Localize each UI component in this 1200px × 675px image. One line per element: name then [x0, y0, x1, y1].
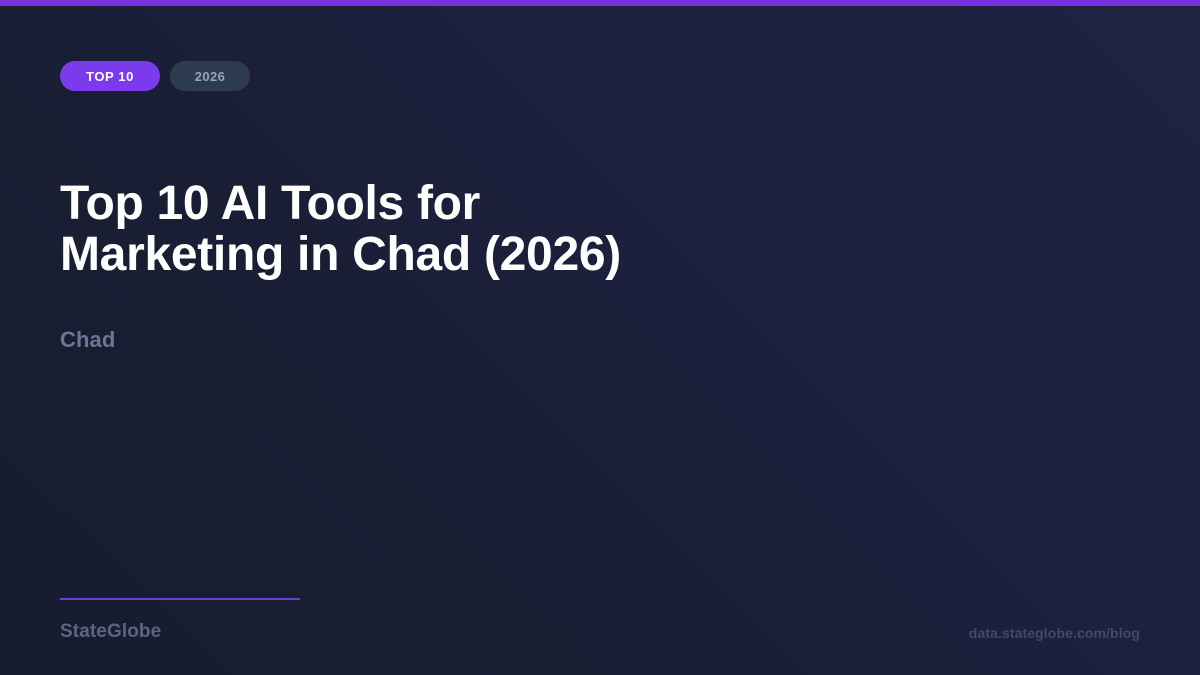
page-title-line-2: Marketing in Chad (2026) [60, 228, 621, 281]
title-slide: TOP 10 2026 Top 10 AI Tools forMarketing… [0, 0, 1200, 675]
footer-brand-name: StateGlobe [60, 621, 161, 643]
top-accent-bar [0, 0, 1200, 6]
page-title-line-1: Top 10 AI Tools for [60, 177, 480, 230]
year-badge: 2026 [170, 61, 250, 91]
badge-row: TOP 10 2026 [60, 61, 250, 91]
footer-url: data.stateglobe.com/blog [969, 625, 1140, 641]
page-subtitle: Chad [60, 327, 115, 353]
rank-badge: TOP 10 [60, 61, 160, 91]
footer-divider [60, 598, 300, 600]
page-title: Top 10 AI Tools forMarketing in Chad (20… [60, 178, 800, 280]
